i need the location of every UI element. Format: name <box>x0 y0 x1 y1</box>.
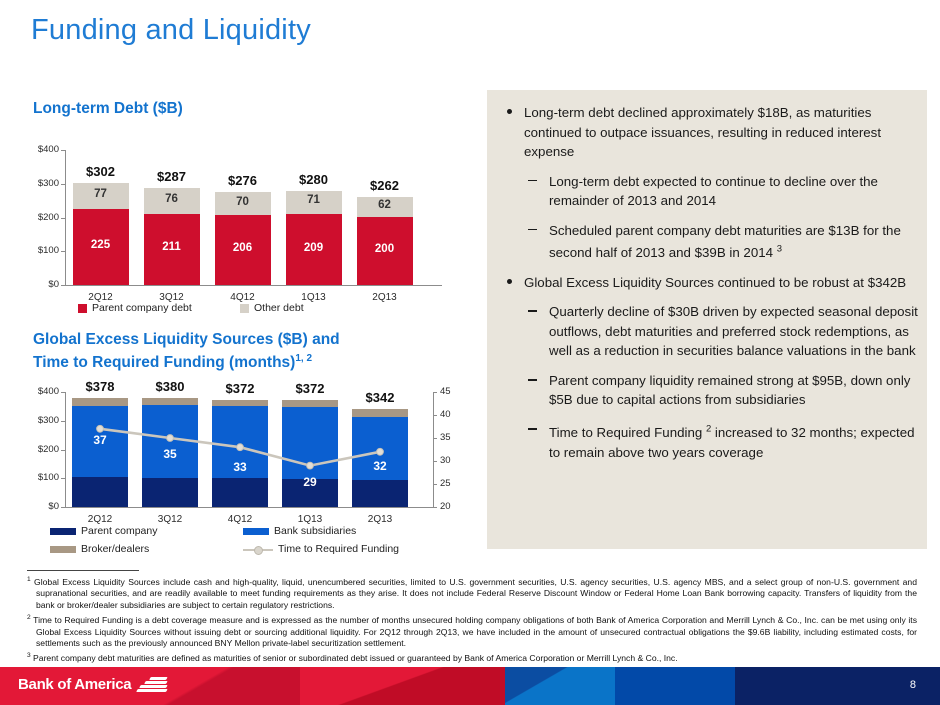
legend-item: Bank subsidiaries <box>243 525 356 537</box>
y-axis-label: $200 <box>19 444 59 455</box>
bar-total-label: $262 <box>341 178 429 193</box>
bullet-text: Parent company liquidity remained strong… <box>549 373 910 408</box>
bar-segment <box>212 400 268 406</box>
x-axis-label: 2Q13 <box>353 292 417 303</box>
y-axis-label: $400 <box>19 144 59 155</box>
y-axis-label: $0 <box>19 279 59 290</box>
legend-label: Bank subsidiaries <box>274 525 356 537</box>
legend-swatch <box>240 304 249 313</box>
y-axis-tick <box>61 184 65 185</box>
footer-bar: Bank of America 8 <box>0 667 940 705</box>
sub-bullet-item: Quarterly decline of $30B driven by expe… <box>487 302 927 361</box>
footnote-ref: 3 <box>777 244 782 255</box>
footnote-divider <box>27 570 139 571</box>
line-value-label: 37 <box>70 433 130 447</box>
y-axis-label: $400 <box>19 386 59 397</box>
bar-column <box>72 398 128 507</box>
y-axis-tick <box>61 251 65 252</box>
legend-swatch <box>50 528 76 535</box>
bar-value-label: 71 <box>286 194 342 206</box>
x-axis-label: 3Q12 <box>138 514 202 525</box>
chart1-heading: Long-term Debt ($B) <box>33 99 183 118</box>
y2-axis-tick <box>433 484 437 485</box>
legend-label: Broker/dealers <box>81 543 149 555</box>
footnotes: 1 Global Excess Liquidity Sources includ… <box>27 574 917 665</box>
y-axis-label: $200 <box>19 212 59 223</box>
bullet-dot-icon <box>507 109 512 114</box>
slide-root: Funding and Liquidity Long-term Debt ($B… <box>0 0 940 705</box>
footer-blue-band-1 <box>505 667 615 705</box>
line-value-label: 32 <box>350 459 410 473</box>
bar-value-label: 70 <box>215 196 271 208</box>
bar-column <box>352 409 408 507</box>
bar-segment <box>72 398 128 406</box>
bullet-text: Time to Required Funding 2 increased to … <box>549 425 915 460</box>
global-excess-liquidity-chart: $0$100$200$300$400202530354045$3782Q12$3… <box>0 375 470 560</box>
bar-value-label: 62 <box>357 199 413 211</box>
footnote: 2 Time to Required Funding is a debt cov… <box>27 612 917 650</box>
y2-axis-tick <box>433 507 437 508</box>
footnote-text: Parent company debt maturities are defin… <box>31 653 678 663</box>
bullet-text: Long-term debt declined approximately $1… <box>524 105 881 159</box>
y2-axis-tick <box>433 415 437 416</box>
sub-bullet-item: Parent company liquidity remained strong… <box>487 371 927 410</box>
legend-item: Time to Required Funding <box>243 543 399 555</box>
y-axis-label: $100 <box>19 245 59 256</box>
footer-blue-band-2 <box>615 667 735 705</box>
bullet-dash-icon <box>528 180 537 182</box>
y2-axis-tick <box>433 461 437 462</box>
bullet-dash-icon <box>528 379 537 381</box>
footnote: 1 Global Excess Liquidity Sources includ… <box>27 574 917 612</box>
y2-axis-label: 45 <box>440 386 466 397</box>
bar-column <box>212 400 268 507</box>
commentary-panel: Long-term debt declined approximately $1… <box>487 90 927 549</box>
y-axis-tick <box>61 507 65 508</box>
brand-logo: Bank of America <box>18 676 167 693</box>
bar-total-label: $342 <box>336 390 424 405</box>
legend-label: Parent company debt <box>92 302 192 314</box>
x-axis-label: 2Q12 <box>68 514 132 525</box>
bar-segment <box>212 478 268 507</box>
legend-label: Time to Required Funding <box>278 543 399 555</box>
bar-segment <box>352 480 408 507</box>
line-value-label: 29 <box>280 475 340 489</box>
bullet-text: Quarterly decline of $30B driven by expe… <box>549 304 918 358</box>
page-title: Funding and Liquidity <box>31 14 311 47</box>
y2-axis-label: 20 <box>440 501 466 512</box>
bullet-dash-icon <box>528 428 537 430</box>
sub-bullet-item: Time to Required Funding 2 increased to … <box>487 420 927 462</box>
y-axis-tick <box>61 285 65 286</box>
legend-swatch <box>78 304 87 313</box>
bullet-dash-icon <box>528 310 537 312</box>
chart2-heading: Global Excess Liquidity Sources ($B) and… <box>33 330 453 372</box>
bar-value-label: 76 <box>144 193 200 205</box>
bullet-item: Global Excess Liquidity Sources continue… <box>487 273 927 293</box>
y-axis-tick <box>61 218 65 219</box>
footnote: 3 Parent company debt maturities are def… <box>27 650 917 664</box>
y2-axis-tick <box>433 438 437 439</box>
x-axis-label: 4Q12 <box>208 514 272 525</box>
y-axis-label: $300 <box>19 178 59 189</box>
bar-segment <box>282 400 338 407</box>
chart2-heading-footnote-ref: 1, 2 <box>295 353 312 364</box>
legend-line-marker <box>243 545 273 554</box>
brand-name: Bank of America <box>18 676 131 693</box>
y2-axis-label: 40 <box>440 409 466 420</box>
bar-value-label: 77 <box>73 188 129 200</box>
bullet-text: Global Excess Liquidity Sources continue… <box>524 275 906 290</box>
footer-red-wedge <box>300 667 510 705</box>
y-axis-tick <box>61 421 65 422</box>
y-axis-label: $300 <box>19 415 59 426</box>
y-axis-label: $100 <box>19 472 59 483</box>
sub-bullet-item: Long-term debt expected to continue to d… <box>487 172 927 211</box>
footnote-text: Time to Required Funding is a debt cover… <box>31 615 917 648</box>
bar-segment <box>352 409 408 417</box>
y2-axis-label: 25 <box>440 478 466 489</box>
y-axis-tick <box>61 450 65 451</box>
legend-item: Parent company debt <box>78 302 192 314</box>
legend-item: Parent company <box>50 525 157 537</box>
bullet-list: Long-term debt declined approximately $1… <box>487 103 927 462</box>
footnote-text: Global Excess Liquidity Sources include … <box>31 577 917 610</box>
line-value-label: 35 <box>140 447 200 461</box>
x-axis-line <box>65 507 433 508</box>
legend-swatch <box>243 528 269 535</box>
legend-item: Broker/dealers <box>50 543 149 555</box>
bar-value-label: 206 <box>215 242 271 254</box>
legend-label: Other debt <box>254 302 304 314</box>
bank-of-america-flag-icon <box>137 676 167 693</box>
bar-value-label: 209 <box>286 242 342 254</box>
bar-segment <box>282 407 338 478</box>
y2-axis-label: 35 <box>440 432 466 443</box>
bullet-text: Long-term debt expected to continue to d… <box>549 174 878 209</box>
page-number: 8 <box>910 679 916 691</box>
y2-axis-line <box>433 392 434 507</box>
y2-axis-label: 30 <box>440 455 466 466</box>
sub-bullet-item: Scheduled parent company debt maturities… <box>487 221 927 263</box>
bullet-dash-icon <box>528 229 537 231</box>
chart2-heading-line1: Global Excess Liquidity Sources ($B) and <box>33 331 340 348</box>
bar-segment <box>142 398 198 405</box>
footnote-ref: 2 <box>706 424 711 435</box>
line-value-label: 33 <box>210 460 270 474</box>
bar-segment <box>142 405 198 478</box>
y2-axis-tick <box>433 392 437 393</box>
long-term-debt-chart: $0$100$200$300$40022577$3022Q1221176$287… <box>0 140 470 320</box>
chart2-heading-line2: Time to Required Funding (months) <box>33 354 295 371</box>
legend-label: Parent company <box>81 525 157 537</box>
bar-segment <box>72 477 128 507</box>
y-axis-label: $0 <box>19 501 59 512</box>
bullet-dot-icon <box>507 279 512 284</box>
legend-swatch <box>50 546 76 553</box>
x-axis-label: 1Q13 <box>278 514 342 525</box>
x-axis-line <box>65 285 442 286</box>
bar-value-label: 225 <box>73 239 129 251</box>
y-axis-line <box>65 392 66 507</box>
bullet-text: Scheduled parent company debt maturities… <box>549 223 901 261</box>
bullet-item: Long-term debt declined approximately $1… <box>487 103 927 162</box>
bar-value-label: 211 <box>144 241 200 253</box>
bar-column <box>282 400 338 507</box>
y-axis-tick <box>61 150 65 151</box>
bar-segment <box>142 478 198 507</box>
legend-item: Other debt <box>240 302 304 314</box>
x-axis-label: 2Q13 <box>348 514 412 525</box>
bar-value-label: 200 <box>357 243 413 255</box>
y-axis-tick <box>61 478 65 479</box>
